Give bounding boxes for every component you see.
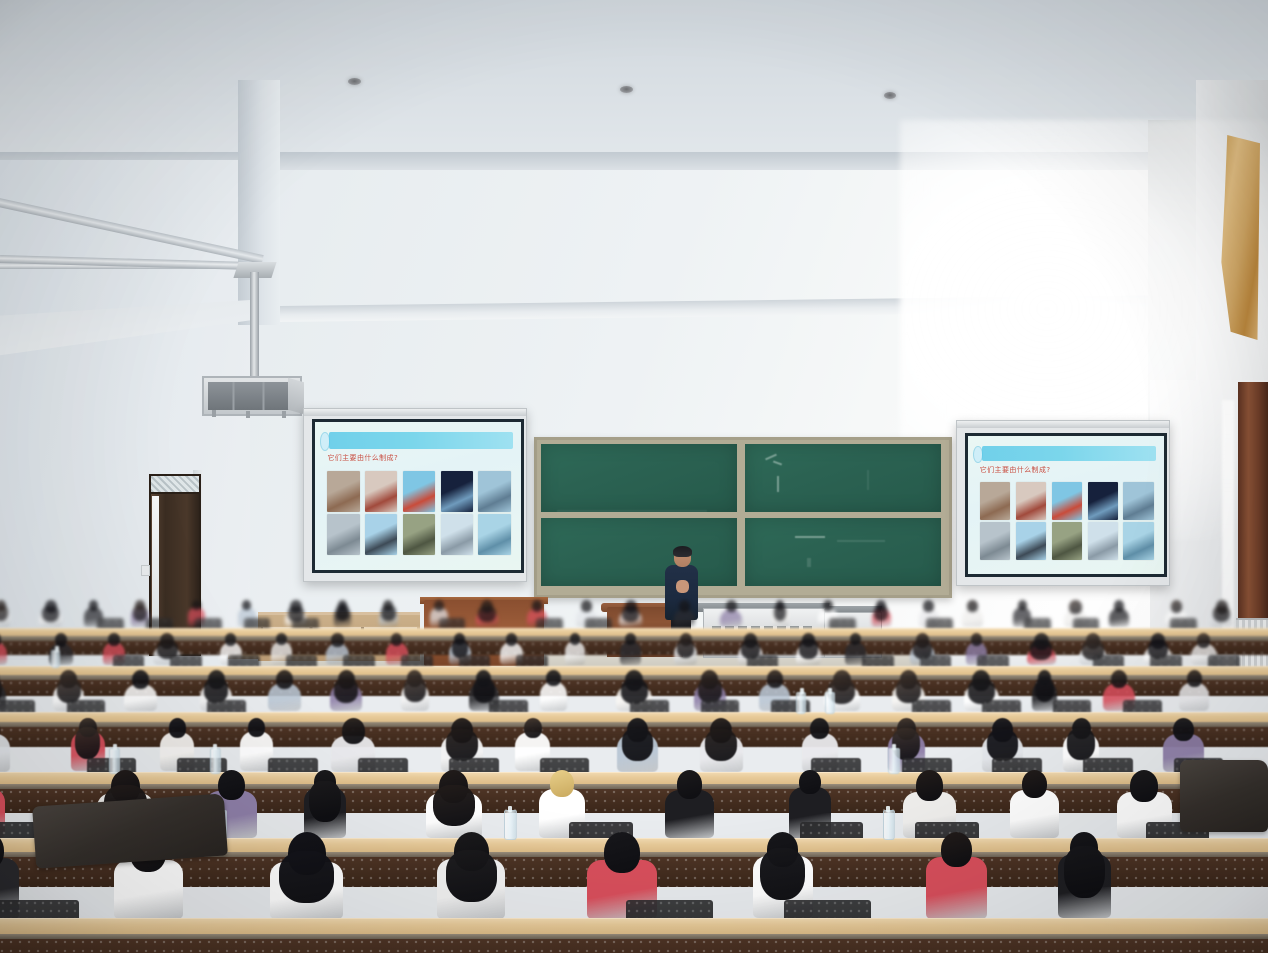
student bbox=[1179, 670, 1208, 710]
student bbox=[330, 670, 363, 710]
student-head bbox=[916, 770, 944, 801]
student-long-hair bbox=[677, 639, 694, 658]
student-head bbox=[971, 633, 982, 646]
student-head bbox=[391, 633, 402, 646]
student-head bbox=[967, 600, 977, 612]
student-long-hair bbox=[705, 729, 737, 761]
student-head bbox=[677, 770, 703, 799]
student bbox=[379, 600, 398, 626]
student-head bbox=[506, 633, 518, 646]
student-head bbox=[767, 670, 783, 688]
student bbox=[476, 600, 499, 626]
student-head bbox=[524, 718, 542, 738]
thumb-high-speed-train bbox=[1088, 522, 1119, 560]
student bbox=[0, 718, 10, 770]
thumb-submersible bbox=[478, 514, 510, 555]
student-head bbox=[923, 600, 933, 612]
student bbox=[39, 600, 62, 626]
student-head bbox=[810, 718, 829, 739]
student-long-hair bbox=[622, 728, 652, 760]
student-long-hair bbox=[309, 781, 340, 822]
thumb-satellite bbox=[1052, 482, 1083, 520]
student-head bbox=[342, 718, 365, 744]
chalk-smudge-8 bbox=[557, 510, 707, 512]
student-long-hair bbox=[279, 851, 334, 903]
student-head bbox=[532, 600, 542, 612]
student-long-hair bbox=[433, 785, 475, 826]
screen-roller-left bbox=[304, 409, 526, 416]
screen-surface-left: 它们主要由什么制成? bbox=[312, 419, 524, 573]
student bbox=[1210, 600, 1233, 626]
student-long-hair bbox=[446, 729, 478, 761]
projector-foot-1 bbox=[212, 410, 216, 417]
chalk-smudge-7 bbox=[807, 558, 811, 567]
water-bottle bbox=[796, 692, 806, 714]
student bbox=[674, 633, 697, 664]
slide-left: 它们主要由什么制成? bbox=[315, 422, 521, 570]
student-long-hair bbox=[799, 639, 818, 658]
student bbox=[540, 670, 568, 710]
student-long-hair bbox=[987, 729, 1018, 761]
chalkboard-panel-bottom-left bbox=[541, 518, 737, 586]
student-head bbox=[679, 600, 690, 612]
student-long-hair bbox=[133, 605, 146, 621]
chalk-smudge-5 bbox=[795, 536, 825, 538]
student-audience bbox=[0, 600, 1268, 953]
thumb-turbine-blade bbox=[365, 514, 397, 555]
student-long-hair bbox=[774, 604, 787, 620]
student-long-hair bbox=[336, 604, 349, 620]
student-head bbox=[1130, 770, 1159, 802]
student-head bbox=[1114, 600, 1125, 612]
water-bottle bbox=[825, 692, 835, 714]
thumb-rocket-launch bbox=[478, 471, 510, 512]
student bbox=[426, 770, 482, 836]
student-head bbox=[248, 718, 265, 737]
student-long-hair bbox=[478, 606, 495, 622]
student bbox=[617, 718, 657, 770]
student-head bbox=[570, 633, 581, 645]
thumb-aircraft bbox=[980, 522, 1011, 560]
student-head bbox=[550, 770, 574, 797]
student bbox=[1027, 633, 1056, 664]
projector-cage bbox=[202, 376, 302, 416]
student-long-hair bbox=[75, 727, 100, 759]
chalkboard-panel-top-left bbox=[541, 444, 737, 512]
presenter-hair bbox=[673, 546, 692, 557]
ceiling-light-3 bbox=[884, 92, 896, 99]
student-long-hair bbox=[334, 678, 359, 703]
student bbox=[1058, 832, 1111, 916]
student bbox=[665, 770, 715, 836]
student-head bbox=[546, 670, 560, 686]
student bbox=[720, 600, 741, 626]
slide-right: 它们主要由什么制成? bbox=[968, 436, 1164, 574]
student-head bbox=[1111, 670, 1127, 688]
light-switch[interactable] bbox=[141, 565, 150, 576]
projector-cage-side bbox=[288, 378, 304, 415]
thumb-tiananmen bbox=[980, 482, 1011, 520]
slide-header-bar bbox=[982, 446, 1156, 461]
student bbox=[796, 633, 821, 664]
student-long-hair bbox=[42, 606, 59, 622]
student-desk bbox=[0, 918, 1268, 953]
student bbox=[872, 600, 891, 626]
slide-title-right: 它们主要由什么制成? bbox=[980, 465, 1051, 475]
thumb-turbine-blade bbox=[1016, 522, 1047, 560]
student-head bbox=[1018, 600, 1027, 610]
presenter-hands bbox=[676, 580, 689, 593]
student-head bbox=[581, 600, 592, 612]
student bbox=[304, 770, 345, 836]
student-long-hair bbox=[622, 606, 639, 622]
student bbox=[565, 633, 586, 664]
lecture-hall-photo: 它们主要由什么制成? 它们主要由什么制成? bbox=[0, 0, 1268, 953]
thumb-high-speed-train bbox=[441, 514, 473, 555]
student-head bbox=[604, 832, 640, 873]
projection-screen-right: 它们主要由什么制成? bbox=[956, 420, 1170, 586]
student-head bbox=[218, 770, 245, 800]
student-long-hair bbox=[381, 605, 395, 621]
thumb-aircraft-carrier bbox=[365, 471, 397, 512]
student-head bbox=[1173, 718, 1194, 741]
student-long-hair bbox=[446, 850, 497, 902]
student-head bbox=[331, 633, 343, 647]
desk-front-panel bbox=[0, 939, 1268, 953]
thumb-tank bbox=[1052, 522, 1083, 560]
sliding-chalkboard bbox=[534, 437, 952, 598]
chalkboard-panel-bottom-right bbox=[745, 518, 941, 586]
projector-pole bbox=[250, 272, 259, 382]
student-head bbox=[108, 633, 119, 646]
student-head bbox=[434, 600, 444, 611]
student bbox=[926, 832, 987, 916]
student-head bbox=[55, 633, 68, 647]
student-head bbox=[1171, 600, 1183, 613]
student-head bbox=[169, 718, 187, 738]
student bbox=[270, 832, 343, 916]
student-long-hair bbox=[1064, 846, 1104, 898]
thumb-aircraft-carrier bbox=[1016, 482, 1047, 520]
student bbox=[0, 633, 7, 664]
projection-screen-left: 它们主要由什么制成? bbox=[303, 408, 527, 582]
student-head bbox=[89, 600, 99, 611]
chalk-smudge-6 bbox=[837, 540, 885, 542]
slide-title-left: 它们主要由什么制成? bbox=[327, 453, 398, 463]
ceiling-light-2 bbox=[620, 86, 633, 93]
student-head bbox=[941, 832, 973, 867]
student-torso bbox=[0, 642, 7, 665]
student-head bbox=[726, 600, 737, 612]
student bbox=[962, 600, 982, 626]
projector-foot-2 bbox=[246, 411, 250, 418]
student-head bbox=[799, 770, 821, 794]
student bbox=[124, 670, 157, 710]
water-bottle bbox=[51, 650, 59, 668]
student-long-hair bbox=[404, 677, 426, 702]
student-long-hair bbox=[1213, 606, 1231, 622]
slide-thumbnail-grid-left bbox=[327, 471, 510, 555]
student-long-hair bbox=[760, 848, 805, 900]
student-long-hair bbox=[1030, 640, 1052, 659]
student-torso bbox=[0, 734, 10, 771]
thumb-spacecraft bbox=[1088, 482, 1119, 520]
chalk-smudge-3 bbox=[777, 476, 779, 492]
thumb-spacecraft bbox=[441, 471, 473, 512]
student-head bbox=[132, 670, 149, 689]
student-long-hair bbox=[1035, 677, 1055, 702]
student bbox=[620, 633, 641, 664]
wall-pillar bbox=[238, 80, 280, 325]
ceiling-light-1 bbox=[348, 78, 361, 85]
thumb-tiananmen bbox=[327, 471, 359, 512]
projector-foot-3 bbox=[282, 411, 286, 418]
student bbox=[1010, 770, 1058, 836]
student bbox=[437, 832, 505, 916]
screen-surface-right: 它们主要由什么制成? bbox=[965, 433, 1167, 577]
student-head bbox=[1022, 770, 1047, 798]
student-head bbox=[1069, 600, 1081, 614]
student-long-hair bbox=[1067, 728, 1095, 760]
student bbox=[1109, 600, 1129, 626]
student-head bbox=[1187, 670, 1202, 687]
slide-header-bar bbox=[329, 432, 512, 448]
student bbox=[619, 600, 641, 626]
desk-surface bbox=[0, 918, 1268, 935]
student bbox=[772, 600, 789, 626]
student-head bbox=[625, 633, 636, 645]
student bbox=[0, 600, 10, 626]
chalk-smudge-4 bbox=[867, 470, 869, 490]
student-head bbox=[276, 670, 293, 689]
student-head bbox=[276, 633, 287, 645]
student bbox=[268, 670, 301, 710]
thumb-tank bbox=[403, 514, 435, 555]
student bbox=[401, 670, 430, 710]
slide-thumbnail-grid-right bbox=[980, 482, 1154, 561]
thumb-rocket-launch bbox=[1123, 482, 1154, 520]
student-head bbox=[192, 600, 201, 610]
thumb-aircraft bbox=[327, 514, 359, 555]
screen-roller-right bbox=[957, 421, 1169, 428]
thumb-satellite bbox=[403, 471, 435, 512]
student-head bbox=[225, 633, 236, 646]
student bbox=[334, 600, 351, 626]
student-head bbox=[1197, 633, 1210, 648]
student bbox=[674, 600, 695, 626]
student bbox=[700, 718, 743, 770]
shoulder-bag bbox=[1180, 760, 1268, 832]
student-long-hair bbox=[473, 678, 495, 703]
student-long-hair bbox=[874, 605, 888, 621]
thumb-submersible bbox=[1123, 522, 1154, 560]
